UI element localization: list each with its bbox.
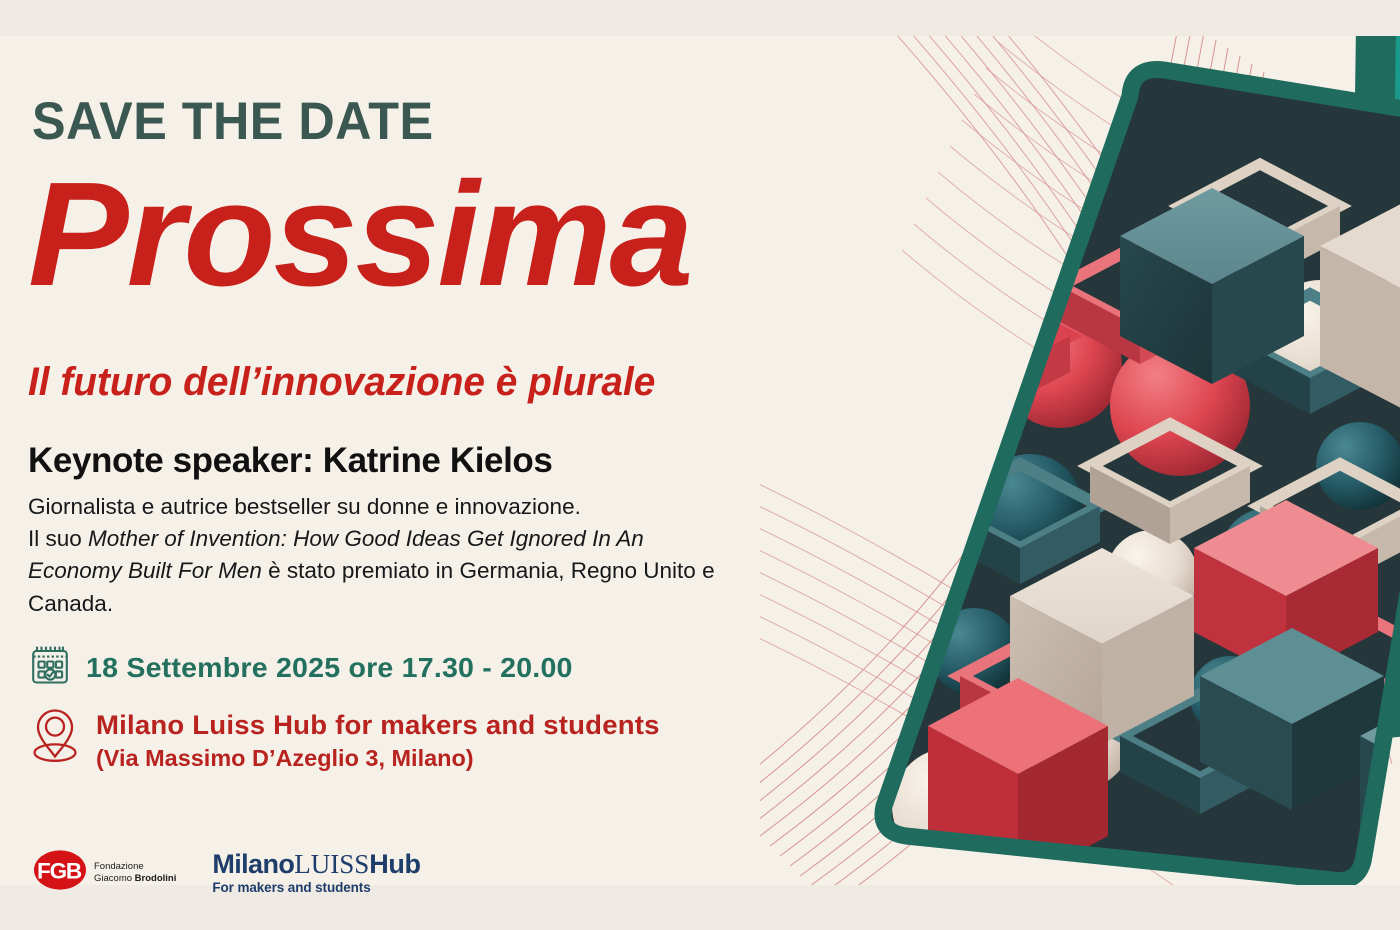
event-date-row: 18 Settembre 2025 ore 17.30 - 20.00: [30, 644, 563, 691]
page-subtitle: Il futuro dell’innovazione è plurale: [28, 360, 655, 405]
artwork-svg: [760, 36, 1400, 885]
venue-name: Milano Luiss Hub for makers and students: [96, 710, 660, 741]
luiss-word-milano: Milano: [212, 849, 294, 879]
bio-line-1: Giornalista e autrice bestseller su donn…: [28, 494, 581, 519]
poster-content: SAVE THE DATE Prossima Il futuro dell’in…: [0, 36, 780, 885]
fgb-mark-svg: FGB: [34, 850, 86, 890]
event-date-text: 18 Settembre 2025 ore 17.30 - 20.00: [86, 652, 573, 684]
decorative-artwork: [760, 36, 1400, 885]
luiss-word-hub: Hub: [369, 849, 420, 879]
fgb-wordmark: Fondazione Giacomo Brodolini: [94, 861, 176, 883]
map-pin-icon: [30, 704, 80, 771]
isometric-cube-composition: [860, 56, 1400, 885]
venue-address: (Via Massimo D’Azeglio 3, Milano): [96, 745, 660, 772]
fgb-mark-icon: FGB: [34, 850, 86, 895]
fgb-logo: FGB Fondazione Giacomo Brodolini: [34, 850, 176, 895]
calendar-icon: [30, 644, 70, 691]
bio-line-2-pre: Il suo: [28, 526, 88, 551]
milano-luiss-hub-logo: MilanoLUISSHub For makers and students: [212, 851, 420, 895]
fgb-line-1: Fondazione: [94, 861, 176, 872]
logo-row: FGB Fondazione Giacomo Brodolini MilanoL…: [34, 850, 421, 895]
kicker-save-the-date: SAVE THE DATE: [32, 91, 434, 152]
luiss-wordmark: MilanoLUISSHub: [212, 851, 420, 878]
poster-canvas: SAVE THE DATE Prossima Il futuro dell’in…: [0, 0, 1400, 930]
luiss-word-luiss: LUISS: [294, 849, 369, 879]
fgb-line-2-bold: Brodolini: [135, 873, 177, 884]
luiss-tagline: For makers and students: [212, 881, 420, 895]
fgb-line-2: Giacomo Brodolini: [94, 873, 176, 884]
sphere-red: [906, 350, 1006, 450]
speaker-bio: Giornalista e autrice bestseller su donn…: [28, 491, 718, 620]
svg-text:FGB: FGB: [37, 859, 82, 884]
event-location-row: Milano Luiss Hub for makers and students…: [30, 704, 649, 772]
page-title: Prossima: [28, 161, 691, 309]
keynote-speaker-line: Keynote speaker: Katrine Kielos: [28, 441, 552, 481]
fgb-line-2-light: Giacomo: [94, 873, 135, 884]
